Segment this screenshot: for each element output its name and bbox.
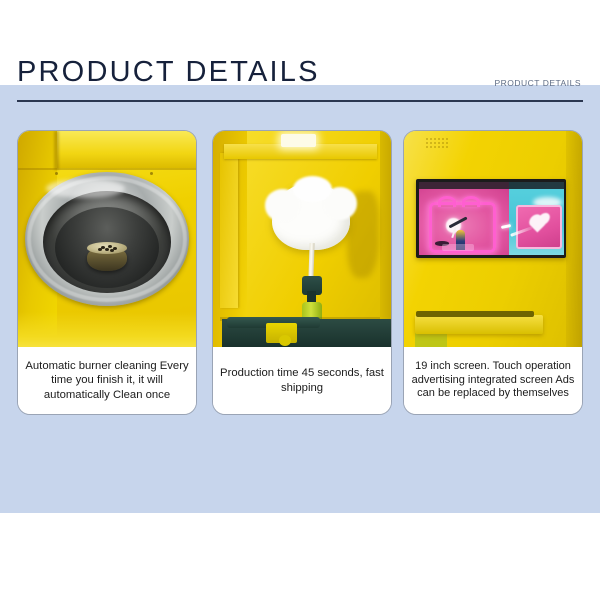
cabinet-bolt-left <box>55 172 58 175</box>
kiosk-touchscreen-photo <box>404 131 582 347</box>
product-details-page: PRODUCT DETAILS PRODUCT DETAILS <box>0 0 600 600</box>
kiosk-right-shading <box>566 131 582 347</box>
lcd-screen-bezel[interactable] <box>416 179 566 259</box>
card-caption: Production time 45 seconds, fast shippin… <box>213 347 391 414</box>
product-detail-card[interactable]: 19 inch screen. Touch operation advertis… <box>403 130 583 415</box>
base-knob <box>279 335 291 346</box>
ceiling-light <box>281 134 317 147</box>
card-caption: Automatic burner cleaning Every time you… <box>18 347 196 414</box>
product-detail-card[interactable]: Production time 45 seconds, fast shippin… <box>212 130 392 415</box>
speaker-grille <box>425 137 448 148</box>
ad-caption-band <box>442 244 474 251</box>
cotton-candy-on-stick-photo <box>213 131 391 347</box>
chamber-right-edge <box>380 131 391 347</box>
heart-shape <box>531 216 548 233</box>
neon-arch-right <box>462 196 480 208</box>
status-bar-indicators <box>527 182 559 183</box>
cabinet-bolt-right <box>150 172 153 175</box>
neon-arch-left <box>438 196 456 208</box>
dispense-shelf <box>415 315 543 334</box>
ad-pink-panel <box>516 205 562 249</box>
ring-specular-highlight <box>46 179 124 198</box>
chamber-left-panel <box>220 153 238 309</box>
dispense-shelf-lip <box>416 311 533 316</box>
product-detail-card[interactable]: Automatic burner cleaning Every time you… <box>17 130 197 415</box>
ad-scene-right <box>509 189 564 255</box>
stainless-spinning-bowl-photo <box>18 131 196 347</box>
ad-scene-left <box>419 189 509 255</box>
card-caption: 19 inch screen. Touch operation advertis… <box>404 347 582 414</box>
cabinet-floor-glow <box>18 312 196 347</box>
product-detail-cards: Automatic burner cleaning Every time you… <box>0 0 600 428</box>
lcd-screen-content[interactable] <box>419 182 564 256</box>
cabinet-seam-line <box>18 168 196 170</box>
screen-status-bar <box>419 182 564 189</box>
cabinet-corner-shadow <box>54 131 59 170</box>
